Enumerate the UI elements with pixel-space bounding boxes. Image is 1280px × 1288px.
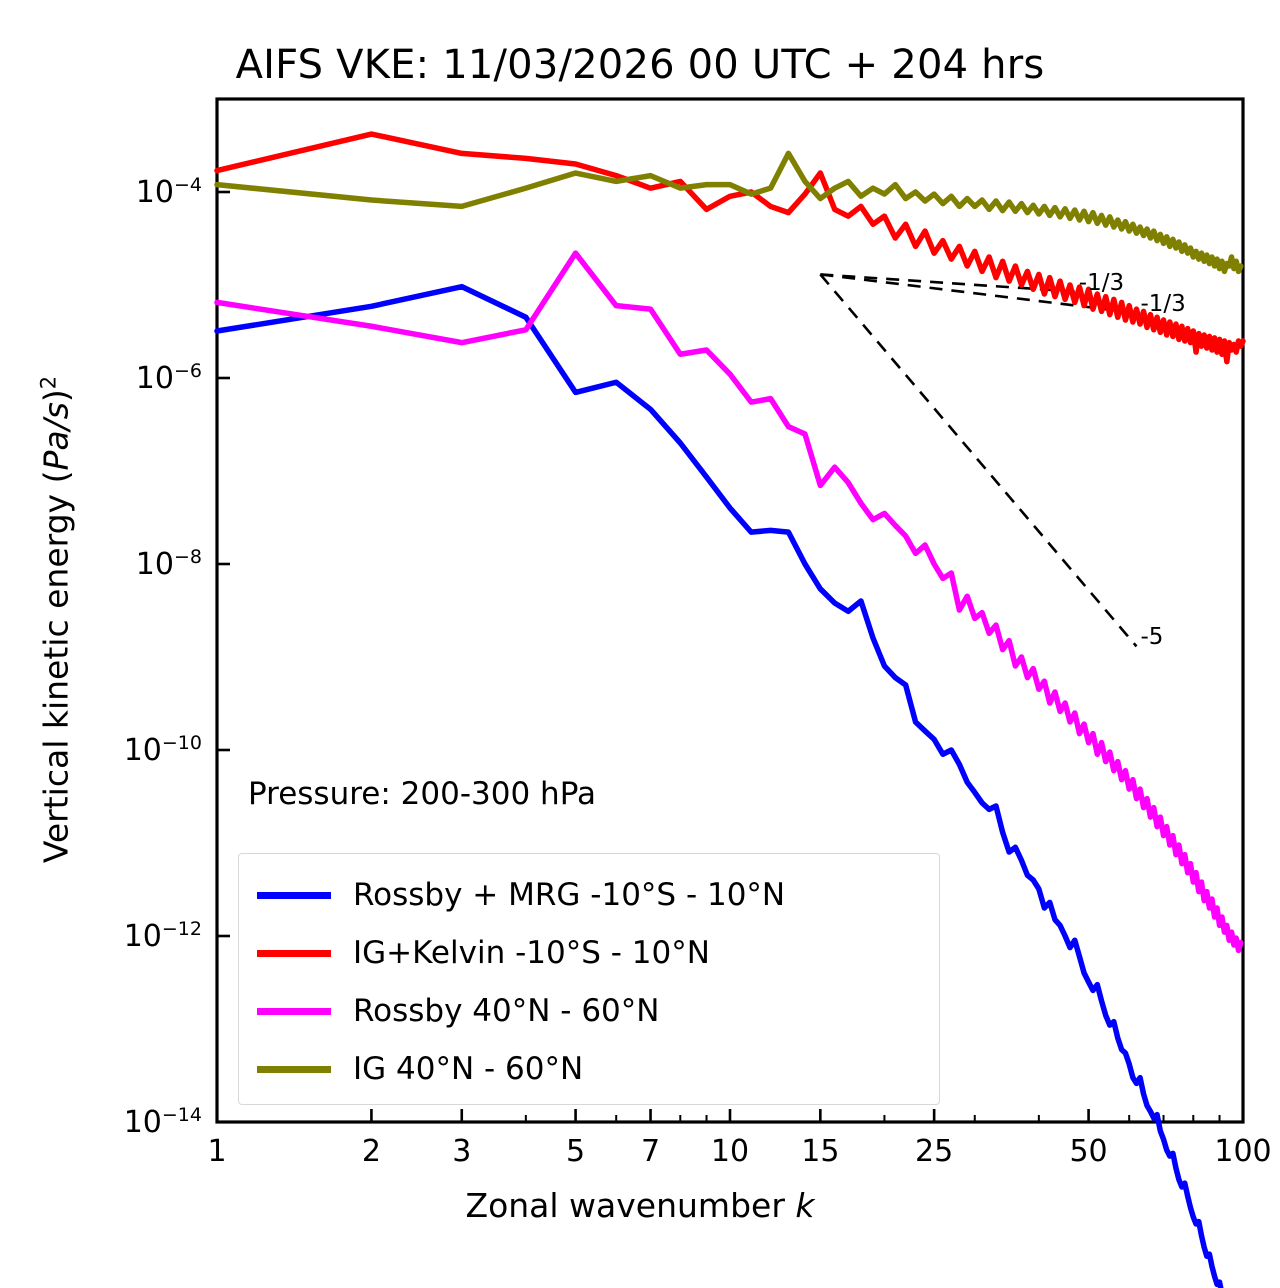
legend-item-label: IG+Kelvin -10°S - 10°N bbox=[353, 935, 710, 971]
slope-label-upper: -1/3 bbox=[1079, 270, 1124, 296]
legend-color-swatch bbox=[257, 1066, 331, 1073]
x-tick-label: 1 bbox=[207, 1134, 226, 1169]
legend-item-label: Rossby + MRG -10°S - 10°N bbox=[353, 877, 785, 913]
legend-item[interactable]: Rossby 40°N - 60°N bbox=[257, 980, 659, 1042]
legend-color-swatch bbox=[257, 950, 331, 957]
legend-item-label: Rossby 40°N - 60°N bbox=[353, 993, 659, 1029]
x-tick-label: 25 bbox=[915, 1134, 953, 1169]
legend-item[interactable]: Rossby + MRG -10°S - 10°N bbox=[257, 864, 785, 926]
x-tick-label: 7 bbox=[641, 1134, 660, 1169]
legend-color-swatch bbox=[257, 892, 331, 899]
legend: Rossby + MRG -10°S - 10°NIG+Kelvin -10°S… bbox=[238, 853, 940, 1105]
x-tick-label: 50 bbox=[1069, 1134, 1107, 1169]
x-tick-label: 3 bbox=[452, 1134, 471, 1169]
chart-page: AIFS VKE: 11/03/2026 00 UTC + 204 hrs Ve… bbox=[0, 0, 1280, 1288]
legend-item-label: IG 40°N - 60°N bbox=[353, 1051, 583, 1087]
x-tick-label: 100 bbox=[1214, 1134, 1271, 1169]
x-tick-label: 5 bbox=[566, 1134, 585, 1169]
x-tick-label: 2 bbox=[362, 1134, 381, 1169]
legend-color-swatch bbox=[257, 1008, 331, 1015]
pressure-annotation: Pressure: 200-300 hPa bbox=[248, 776, 596, 812]
legend-item[interactable]: IG 40°N - 60°N bbox=[257, 1038, 583, 1100]
legend-item[interactable]: IG+Kelvin -10°S - 10°N bbox=[257, 922, 710, 984]
x-tick-label: 15 bbox=[801, 1134, 839, 1169]
x-tick-label: 10 bbox=[711, 1134, 749, 1169]
slope-label-steep: -5 bbox=[1140, 624, 1163, 650]
slope-label-lower: -1/3 bbox=[1140, 291, 1185, 317]
